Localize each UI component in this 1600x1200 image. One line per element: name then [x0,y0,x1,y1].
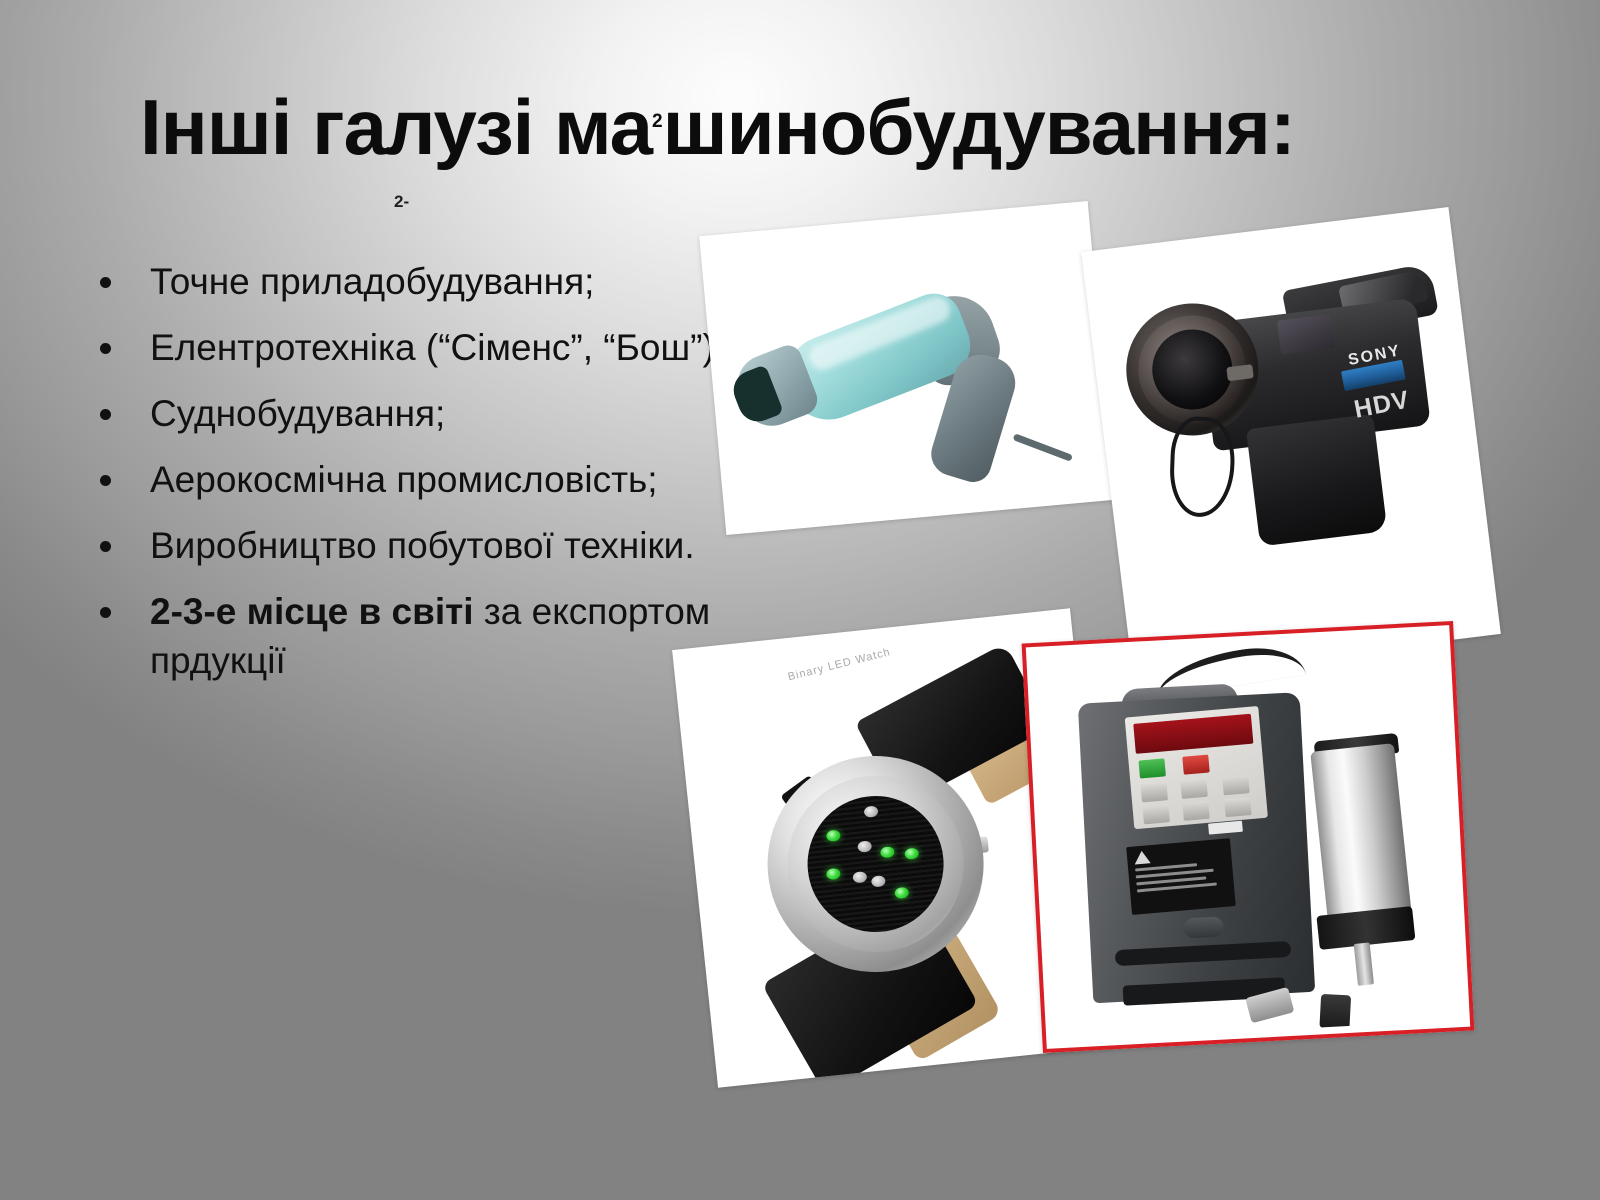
slide-title-text: Інші галузі ма [140,83,652,171]
bullet-dot-icon [100,409,111,420]
list-item: Виробництво побутової техніки. [88,522,748,570]
vfd-button-green [1138,758,1165,778]
watch-led [826,868,841,880]
vfd-warning-label [1126,838,1236,915]
vfd-button [1142,804,1169,824]
sony-camcorder-photo: SONY HDV selarmat.biz.ua [1081,207,1501,679]
presentation-slide: Інші галузі ма2шинобудування: 2- Точне п… [0,0,1600,1200]
bullet-dot-icon [100,475,111,486]
title-superscript: 2 [652,111,663,132]
list-item: Суднобудування; [88,390,748,438]
watch-led [826,830,841,842]
vfd-button [1182,801,1209,821]
vfd-button [1141,782,1168,802]
vfd-button [1180,779,1207,799]
watch-led [852,871,867,883]
spindle-motor-body-shape [1310,743,1412,923]
vfd-photo-inner [1033,633,1463,1042]
vfd-button [1224,797,1251,817]
stray-superscript-mark: 2- [394,192,409,212]
list-item: Аерокосмічна промисловість; [88,456,748,504]
watch-led [857,840,872,852]
camcorder-handgrip-shape [1246,414,1387,547]
list-item: Точне приладобудування; [88,258,748,306]
hair-dryer-photo [699,201,1115,535]
bullet-text: Елентротехніка (“Сіменс”, “Бош”); [150,327,725,368]
bullet-dot-icon [100,277,111,288]
bullet-dot-icon [100,607,111,618]
vfd-keypad-panel [1125,706,1268,829]
bullet-list: Точне приладобудування; Елентротехніка (… [88,258,748,703]
vfd-button [1222,775,1249,795]
vfd-button-red [1182,755,1209,775]
watch-led [904,847,919,859]
connector-plug-shape [1319,994,1351,1030]
spindle-shaft-shape [1354,942,1374,985]
bullet-text-bold: 2-3-е місце в світі [150,591,474,632]
dryer-cord-shape [1013,433,1073,462]
slide-title-text-cont: шинобудування: [663,83,1295,171]
hair-dryer-illustration [699,201,1115,535]
watch-led [894,887,909,899]
bullet-text: Аерокосмічна промисловість; [150,459,658,500]
bullet-text: Виробництво побутової техніки. [150,525,695,566]
camcorder-wrist-strap-shape [1169,416,1236,518]
bullet-text: Точне приладобудування; [150,261,594,302]
list-item-highlight: 2-3-е місце в світі за експортом прдукці… [88,588,748,684]
vfd-spindle-photo [1022,621,1475,1053]
bullet-dot-icon [100,343,111,354]
bullet-text: Суднобудування; [150,393,445,434]
watch-top-note: Binary LED Watch [787,646,892,683]
watch-led [880,846,895,858]
list-item: Елентротехніка (“Сіменс”, “Бош”); [88,324,748,372]
warning-triangle-icon [1134,850,1151,864]
watch-led [871,875,886,887]
slide-title: Інші галузі ма2шинобудування: [140,88,1480,166]
bullet-dot-icon [100,541,111,552]
camcorder-screen-shape [1277,314,1335,354]
watch-led [864,805,879,817]
vfd-display-shape [1133,714,1253,754]
vfd-knob-shape [1183,916,1224,938]
